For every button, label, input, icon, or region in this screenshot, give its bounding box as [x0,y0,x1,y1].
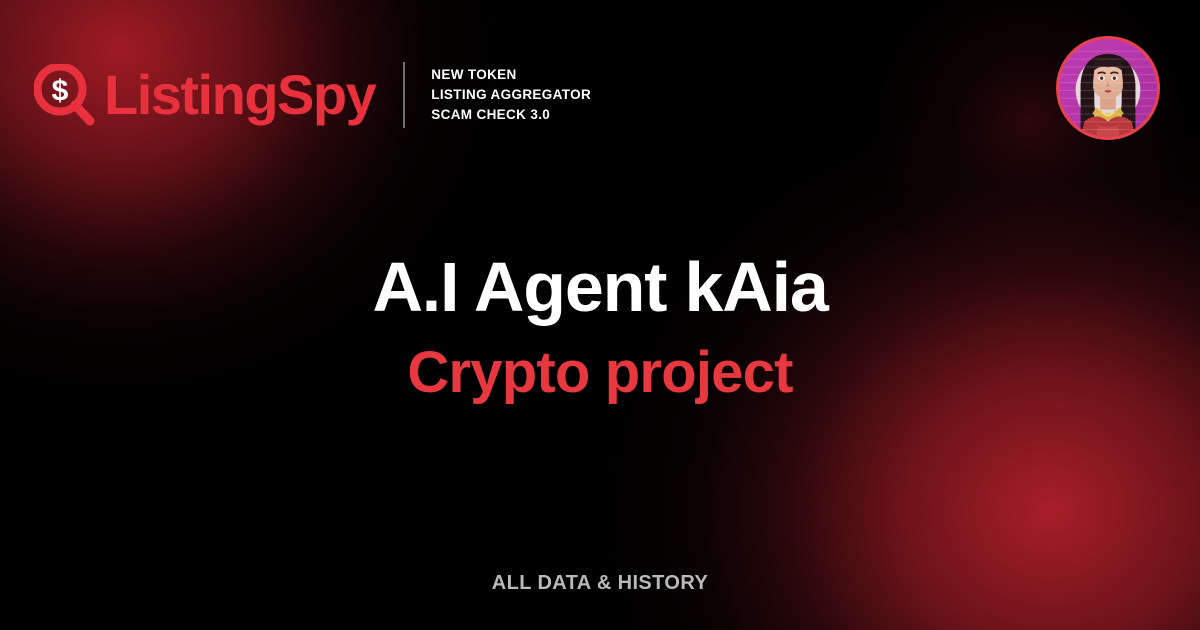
promo-card: $ ListingSpy NEW TOKEN LISTING AGGREGATO… [0,0,1200,630]
brand-header: $ ListingSpy NEW TOKEN LISTING AGGREGATO… [34,52,591,138]
footer-caption: ALL DATA & HISTORY [0,572,1200,595]
brand-tagline: NEW TOKEN LISTING AGGREGATOR SCAM CHECK … [431,65,591,125]
svg-text:$: $ [52,75,69,108]
tagline-line-2: LISTING AGGREGATOR [431,85,591,105]
tagline-line-3: SCAM CHECK 3.0 [431,105,591,125]
tagline-line-1: NEW TOKEN [431,65,591,85]
page-title: A.I Agent kAia [0,252,1200,322]
avatar[interactable] [1056,36,1160,140]
header-divider [403,62,405,128]
page-subtitle: Crypto project [0,344,1200,402]
magnifier-dollar-icon: $ [34,64,96,126]
background-glow-avatar [870,0,1190,270]
avatar-portrait-icon [1059,39,1157,137]
hero-block: A.I Agent kAia Crypto project [0,252,1200,402]
brand-wordmark: ListingSpy [104,67,375,123]
